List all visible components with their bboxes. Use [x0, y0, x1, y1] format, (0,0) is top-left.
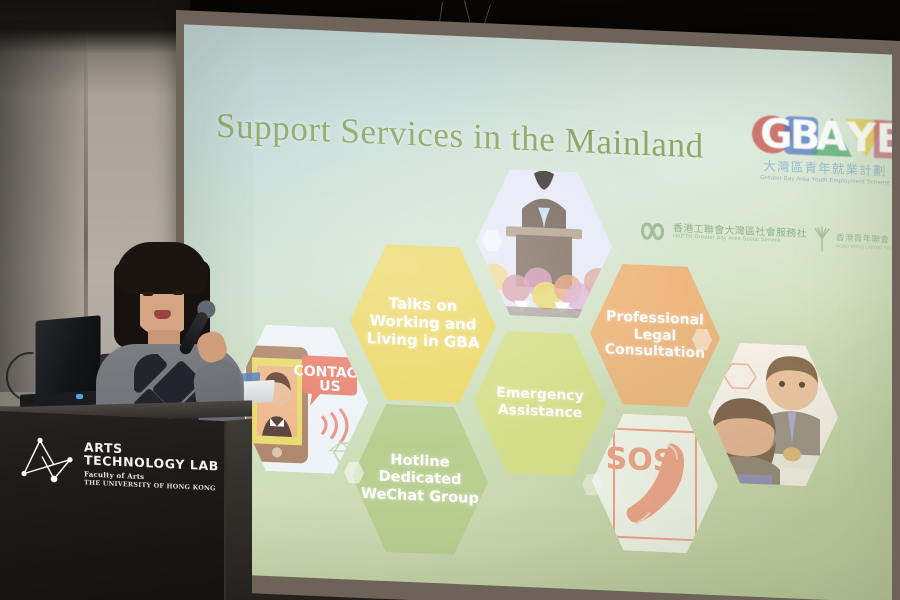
- gbayes-letter-a: A: [816, 116, 847, 157]
- two-people-consulting-icon: [708, 339, 838, 491]
- atl-text-block: ARTS TECHNOLOGY LAB Faculty of Arts THE …: [84, 436, 219, 492]
- sos-illustration: SOS: [592, 410, 718, 557]
- hex-talks[interactable]: Talks on Working and Living in GBA: [350, 239, 496, 407]
- hkftu-infinity-icon: [639, 220, 669, 243]
- svg-text:US: US: [319, 378, 340, 395]
- gbayes-logo: G B A Y E S 大灣區青年就業計劃 Greater Bay Area Y…: [750, 113, 892, 187]
- hex-emergency-label: Emergency Assistance: [474, 384, 606, 423]
- hex-emergency[interactable]: Emergency Assistance: [474, 327, 606, 481]
- hex-seminar[interactable]: [476, 165, 612, 323]
- hkuya-text: 香港青年聯會 HONG KONG UNITED YOUTH ASSOCIATIO…: [836, 231, 892, 252]
- hex-hotline-label: Hotline Dedicated WeChat Group: [352, 451, 488, 508]
- gbayes-letter-y: Y: [847, 118, 876, 159]
- projection-screen: Support Services in the Mainland G B A Y: [176, 10, 900, 600]
- gbayes-letter-e: E: [876, 119, 892, 160]
- presenter-mouth: [154, 310, 171, 319]
- partner-logo-row: 香港工聯會大灣區社會服務社 HKFTU Greater Bay Area Soc…: [639, 216, 889, 269]
- gbayes-letter-g: G: [760, 114, 793, 155]
- slide: Support Services in the Mainland G B A Y: [184, 24, 892, 600]
- hex-talks-label: Talks on Working and Living in GBA: [350, 294, 496, 353]
- arts-technology-lab-logo: ARTS TECHNOLOGY LAB Faculty of Arts THE …: [20, 433, 220, 492]
- slide-title: Support Services in the Mainland: [216, 106, 704, 167]
- hex-sos[interactable]: SOS: [592, 410, 718, 557]
- sos-telephone-handset-icon: SOS: [592, 410, 718, 557]
- podium: ARTS TECHNOLOGY LAB Faculty of Arts THE …: [0, 404, 252, 600]
- presentation-room-photo: Support Services in the Mainland G B A Y: [0, 0, 900, 600]
- presenter-eye-left: [143, 292, 153, 296]
- hex-hotline[interactable]: Hotline Dedicated WeChat Group: [352, 400, 488, 560]
- presenter-hair-fringe: [116, 242, 208, 294]
- hkftu-text: 香港工聯會大灣區社會服務社 HKFTU Greater Bay Area Soc…: [673, 224, 807, 246]
- atl-triangle-logo-icon: [20, 433, 76, 486]
- projection-screen-surface: Support Services in the Mainland G B A Y: [184, 24, 892, 600]
- laptop-led: [76, 394, 83, 399]
- consultation-illustration: [708, 339, 838, 491]
- gbayes-letters: G B A Y E S: [750, 113, 892, 161]
- laptop-lid: [36, 315, 101, 401]
- hkuya-logo: 香港青年聯會 HONG KONG UNITED YOUTH ASSOCIATIO…: [811, 225, 892, 256]
- hex-consultation[interactable]: [708, 339, 838, 491]
- presenter-eye-right: [173, 291, 183, 295]
- hkuya-sprout-icon: [811, 225, 833, 252]
- hkftu-logo: 香港工聯會大灣區社會服務社 HKFTU Greater Bay Area Soc…: [639, 220, 807, 249]
